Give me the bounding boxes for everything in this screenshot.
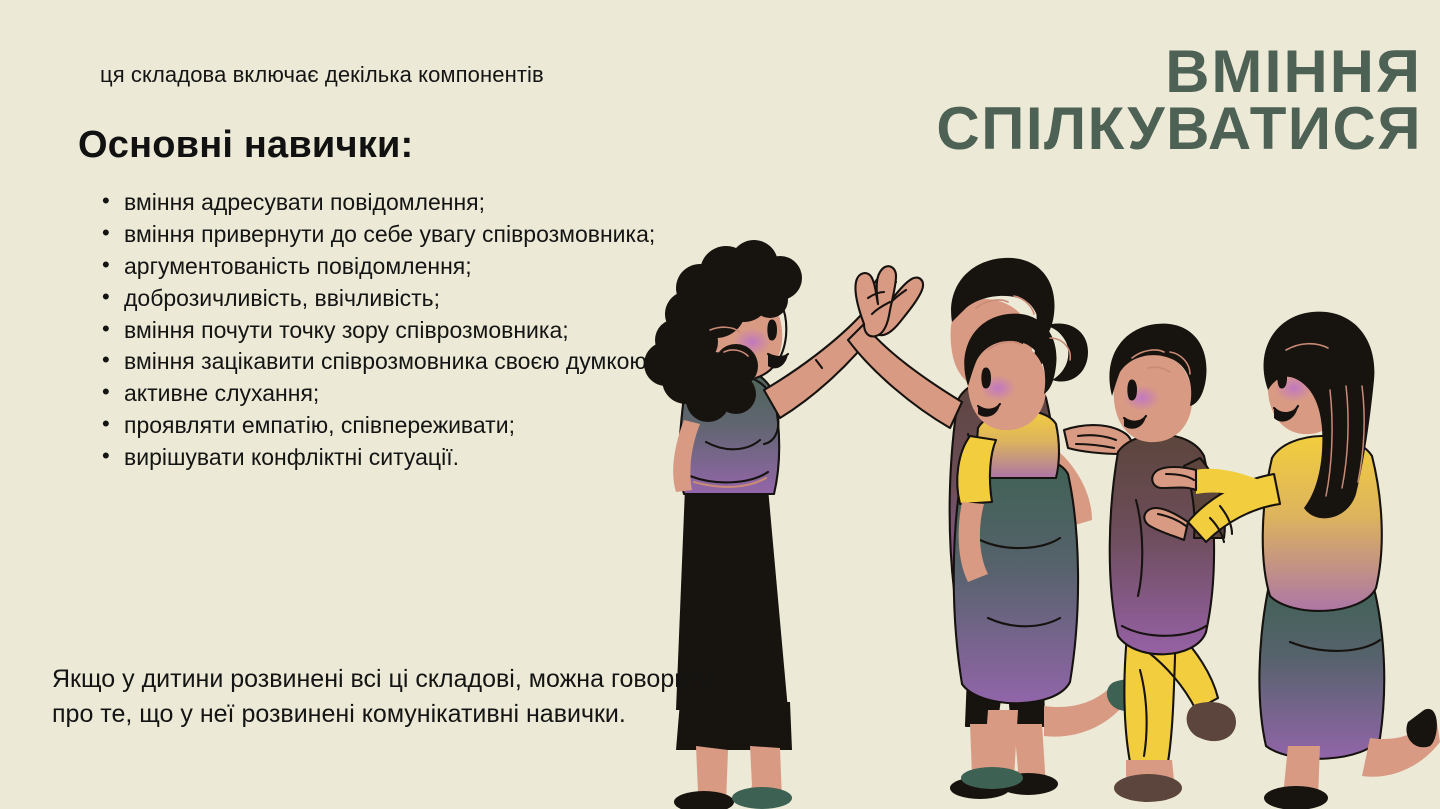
list-item: вміння привернути до себе увагу співрозм… [96, 220, 676, 250]
illustration-svg [640, 190, 1440, 809]
list-item: проявляти емпатію, співпереживати; [96, 411, 676, 441]
figure-overalls-girl [954, 314, 1148, 789]
title-line-2: СПІЛКУВАТИСЯ [762, 101, 1422, 156]
section-heading: Основні навички: [78, 124, 413, 167]
list-item: аргументованість повідомлення; [96, 252, 676, 282]
list-item: вміння зацікавити співрозмовника своєю д… [96, 347, 676, 377]
title-line-1: ВМІННЯ [749, 44, 1422, 99]
group-of-children-illustration [640, 190, 1440, 809]
closing-paragraph: Якщо у дитини розвинені всі ці складові,… [52, 662, 752, 731]
slide-root: ВМІННЯ СПІЛКУВАТИСЯ ця складова включає … [0, 0, 1440, 809]
list-item: вміння почути точку зору співрозмовника; [96, 316, 676, 346]
list-item: доброзичливість, ввічливість; [96, 284, 676, 314]
figure-brown-tee-boy [848, 258, 1092, 799]
figure-long-hair-girl [1144, 312, 1440, 809]
kicker-text: ця складова включає декілька компонентів [100, 62, 544, 88]
list-item: вміння адресувати повідомлення; [96, 188, 676, 218]
skills-list: вміння адресувати повідомлення; вміння п… [96, 188, 676, 475]
figure-yellow-pants-boy [1109, 324, 1236, 802]
slide-title: ВМІННЯ СПІЛКУВАТИСЯ [762, 44, 1422, 156]
list-item: вирішувати конфліктні ситуації. [96, 443, 676, 473]
list-item: активне слухання; [96, 379, 676, 409]
